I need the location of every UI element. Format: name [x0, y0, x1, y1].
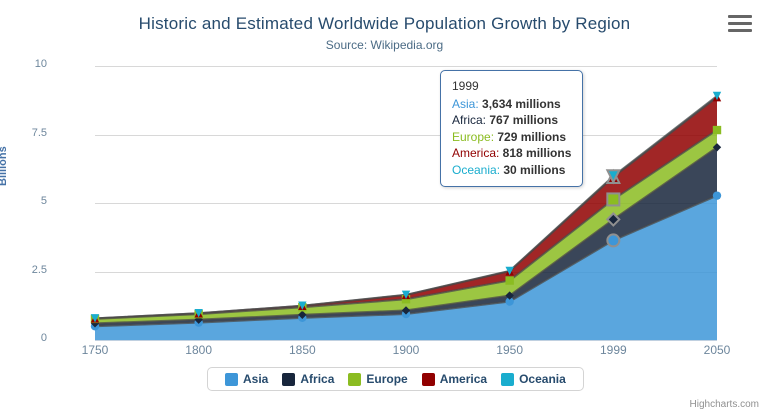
tooltip-header: 1999 [452, 78, 571, 96]
legend-swatch-africa [282, 373, 295, 386]
legend-item-asia[interactable]: Asia [225, 372, 268, 386]
legend-label: Oceania [519, 372, 566, 386]
point-asia-2050[interactable] [713, 191, 721, 199]
legend-item-europe[interactable]: Europe [348, 372, 407, 386]
tooltip-row-africa: Africa: 767 millions [452, 112, 571, 129]
legend-item-oceania[interactable]: Oceania [501, 372, 566, 386]
menu-bar-3 [728, 29, 752, 32]
legend: AsiaAfricaEuropeAmericaOceania [207, 367, 584, 391]
menu-bar-2 [728, 22, 752, 25]
tooltip-series-value: 30 millions [500, 163, 565, 177]
legend-item-africa[interactable]: Africa [282, 372, 334, 386]
legend-label: Asia [243, 372, 268, 386]
highcharts-container: Historic and Estimated Worldwide Populat… [0, 0, 769, 416]
y-axis-tick-label: 10 [7, 58, 47, 70]
tooltip-series-name: Europe: [452, 130, 494, 144]
legend-label: Africa [300, 372, 334, 386]
menu-bar-1 [728, 15, 752, 18]
tooltip-rows: Asia: 3,634 millionsAfrica: 767 millions… [452, 96, 571, 179]
y-axis-title: Billions [0, 146, 9, 186]
tooltip-series-value: 729 millions [494, 130, 566, 144]
chart-subtitle: Source: Wikipedia.org [0, 38, 769, 52]
legend-label: Europe [366, 372, 407, 386]
x-axis-tick-label: 1850 [272, 343, 332, 357]
x-axis-tick-label: 1950 [480, 343, 540, 357]
y-axis-tick-label: 2.5 [7, 264, 47, 276]
y-axis-tick-label: 0 [7, 332, 47, 344]
x-axis-tick-label: 1800 [169, 343, 229, 357]
x-axis-tick-label: 1999 [583, 343, 643, 357]
point-europe-2050[interactable] [713, 126, 721, 134]
tooltip-row-asia: Asia: 3,634 millions [452, 96, 571, 113]
series-layer [95, 66, 717, 340]
tooltip-series-name: Oceania: [452, 163, 500, 177]
tooltip-series-name: Africa: [452, 113, 486, 127]
credits-link[interactable]: Highcharts.com [690, 399, 759, 410]
legend-swatch-america [422, 373, 435, 386]
legend-swatch-oceania [501, 373, 514, 386]
x-axis-tick-label: 1900 [376, 343, 436, 357]
tooltip-row-america: America: 818 millions [452, 145, 571, 162]
tooltip: 1999 Asia: 3,634 millionsAfrica: 767 mil… [440, 70, 583, 187]
tooltip-series-value: 767 millions [486, 113, 558, 127]
legend-swatch-europe [348, 373, 361, 386]
x-axis-tick-label: 1750 [65, 343, 125, 357]
legend-item-america[interactable]: America [422, 372, 487, 386]
tooltip-series-name: Asia: [452, 97, 479, 111]
legend-swatch-asia [225, 373, 238, 386]
y-axis-tick-label: 5 [7, 195, 47, 207]
x-axis-tick-label: 2050 [687, 343, 747, 357]
hamburger-menu-icon[interactable] [728, 15, 752, 37]
tooltip-row-oceania: Oceania: 30 millions [452, 162, 571, 179]
point-europe-1950[interactable] [505, 276, 513, 284]
tooltip-series-name: America: [452, 146, 499, 160]
chart-title: Historic and Estimated Worldwide Populat… [0, 14, 769, 34]
plot-area [95, 66, 717, 340]
legend-label: America [440, 372, 487, 386]
tooltip-row-europe: Europe: 729 millions [452, 129, 571, 146]
y-axis-tick-label: 7.5 [7, 127, 47, 139]
tooltip-series-value: 3,634 millions [479, 97, 561, 111]
tooltip-series-value: 818 millions [499, 146, 571, 160]
gridline [95, 340, 717, 341]
